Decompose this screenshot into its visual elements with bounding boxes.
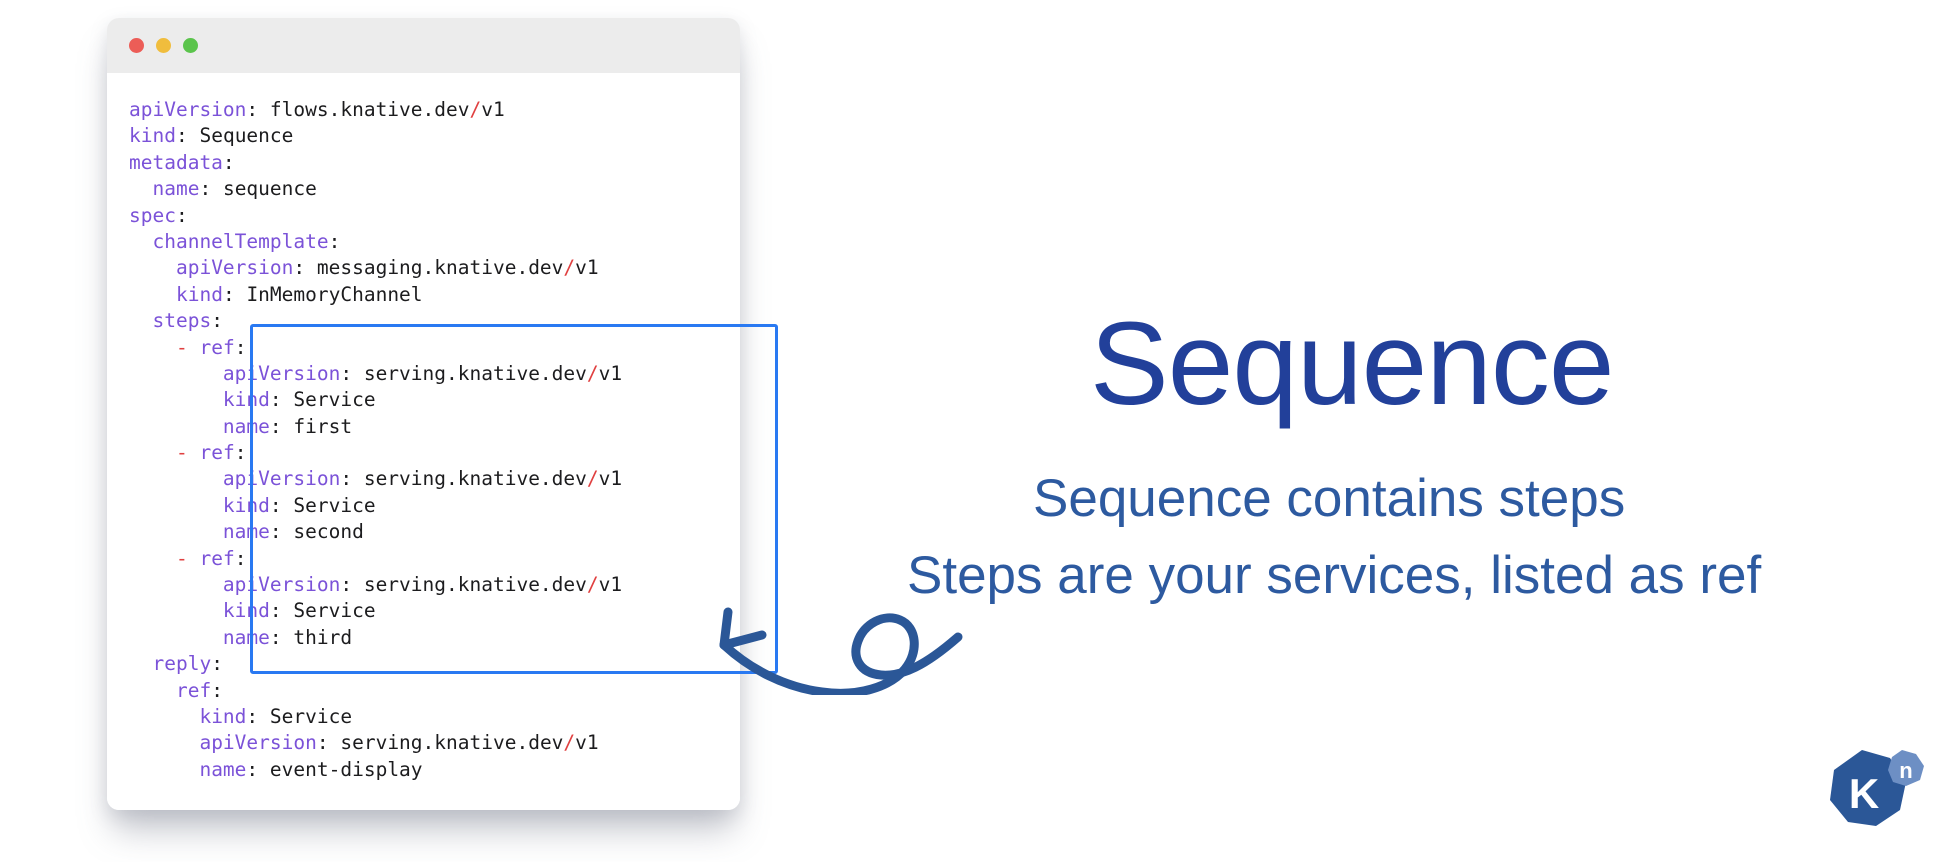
code-line: name: sequence bbox=[129, 176, 740, 202]
code-line: apiVersion: serving.knative.dev/v1 bbox=[129, 466, 740, 492]
logo-letter-k: K bbox=[1849, 770, 1879, 817]
subtitle-line-1: Sequence contains steps bbox=[1033, 468, 1625, 530]
code-window: apiVersion: flows.knative.dev/v1kind: Se… bbox=[107, 18, 740, 810]
logo-letter-n: n bbox=[1899, 758, 1912, 783]
yaml-code-block: apiVersion: flows.knative.dev/v1kind: Se… bbox=[107, 97, 740, 783]
code-line: - ref: bbox=[129, 440, 740, 466]
window-titlebar bbox=[107, 18, 740, 73]
close-button[interactable] bbox=[129, 38, 144, 53]
code-editor-pane[interactable]: apiVersion: flows.knative.dev/v1kind: Se… bbox=[107, 73, 740, 810]
slide-root: apiVersion: flows.knative.dev/v1kind: Se… bbox=[0, 0, 1960, 862]
minimize-button[interactable] bbox=[156, 38, 171, 53]
code-line: metadata: bbox=[129, 150, 740, 176]
code-line: kind: Service bbox=[129, 493, 740, 519]
code-line: apiVersion: flows.knative.dev/v1 bbox=[129, 97, 740, 123]
page-title: Sequence bbox=[1090, 305, 1613, 423]
code-line: - ref: bbox=[129, 546, 740, 572]
code-line: kind: Sequence bbox=[129, 123, 740, 149]
zoom-button[interactable] bbox=[183, 38, 198, 53]
code-line: kind: Service bbox=[129, 598, 740, 624]
code-line: - ref: bbox=[129, 335, 740, 361]
knative-logo: K n bbox=[1814, 744, 1926, 836]
code-line: apiVersion: serving.knative.dev/v1 bbox=[129, 730, 740, 756]
subtitle-line-2: Steps are your services, listed as ref bbox=[907, 545, 1761, 607]
code-line: kind: InMemoryChannel bbox=[129, 282, 740, 308]
code-line: channelTemplate: bbox=[129, 229, 740, 255]
code-line: apiVersion: serving.knative.dev/v1 bbox=[129, 361, 740, 387]
code-line: kind: Service bbox=[129, 387, 740, 413]
code-line: name: third bbox=[129, 625, 740, 651]
code-line: name: event-display bbox=[129, 757, 740, 783]
code-line: ref: bbox=[129, 678, 740, 704]
curved-loop-arrow-icon bbox=[676, 565, 966, 695]
code-line: name: first bbox=[129, 414, 740, 440]
code-line: kind: Service bbox=[129, 704, 740, 730]
code-line: reply: bbox=[129, 651, 740, 677]
code-line: spec: bbox=[129, 203, 740, 229]
code-line: steps: bbox=[129, 308, 740, 334]
code-line: apiVersion: messaging.knative.dev/v1 bbox=[129, 255, 740, 281]
code-line: name: second bbox=[129, 519, 740, 545]
code-line: apiVersion: serving.knative.dev/v1 bbox=[129, 572, 740, 598]
